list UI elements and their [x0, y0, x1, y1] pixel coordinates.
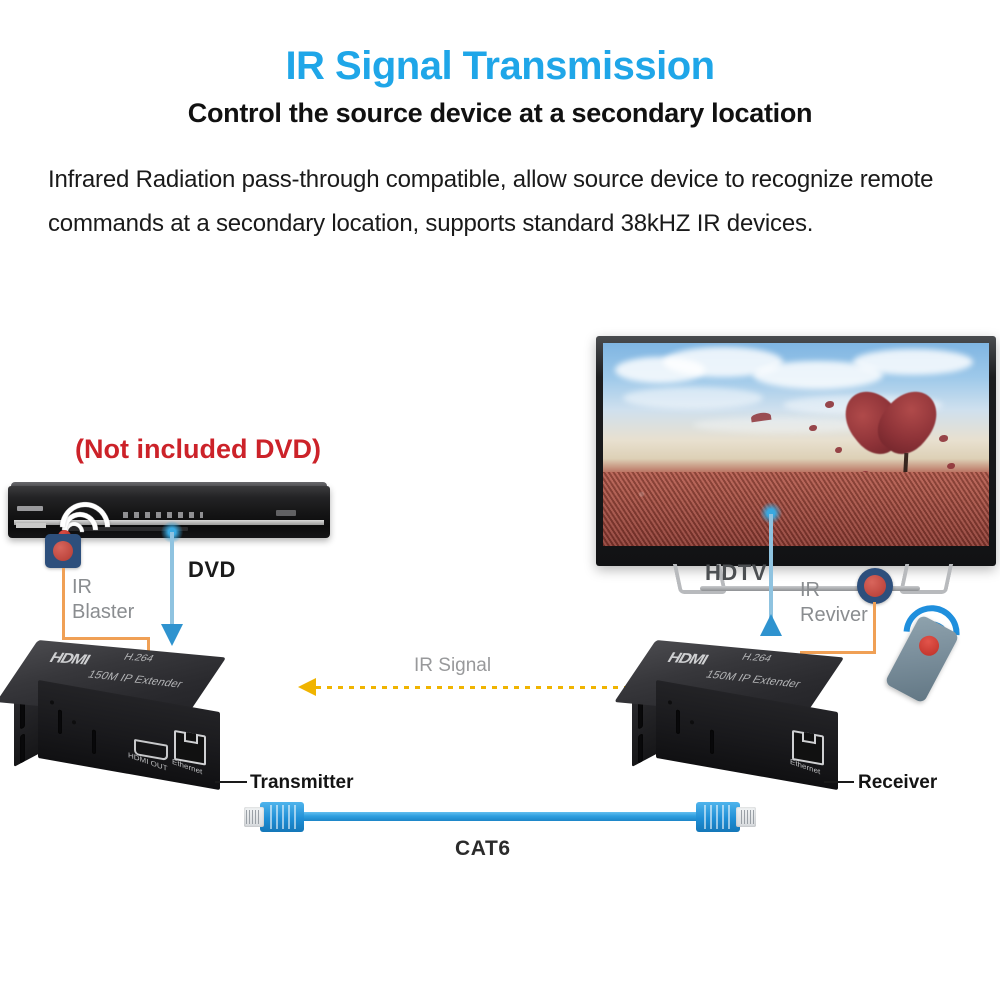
dvd-logo-right — [276, 510, 296, 516]
hdtv-video-arrow-line — [769, 514, 773, 622]
receiver-unit: HDMI H.264 150M IP Extender Receiver Eth… — [632, 640, 882, 810]
dvd-display — [123, 512, 203, 518]
cat6-connector-left — [244, 802, 304, 832]
cat6-connector-right — [696, 802, 756, 832]
hdtv-scene-ground — [603, 472, 989, 546]
transmitter-vent — [20, 733, 25, 764]
ir-receiver-label: IR Reviver — [800, 578, 868, 628]
receiver-callout-label: Receiver — [858, 770, 937, 795]
dvd-label: DVD — [188, 557, 236, 582]
ir-blaster-icon — [45, 534, 81, 568]
ir-blaster-cable-segment-vertical — [62, 568, 65, 640]
ir-blaster-label-line1: IR — [72, 575, 134, 600]
heart-tree-canopy — [849, 389, 935, 467]
ir-blaster-label: IR Blaster — [72, 575, 134, 625]
receiver-callout-leader — [824, 781, 854, 783]
page-title: IR Signal Transmission — [0, 44, 1000, 89]
infographic-canvas: IR Signal Transmission Control the sourc… — [0, 0, 1000, 1000]
transmitter-codec-label: H.264 — [122, 652, 156, 664]
transmitter-callout-label: Transmitter — [250, 770, 353, 795]
description-paragraph: Infrared Radiation pass-through compatib… — [48, 158, 978, 246]
ir-receiver-label-line1: IR — [800, 578, 868, 603]
receiver-vent — [638, 733, 643, 764]
hdtv-bezel — [596, 336, 996, 566]
ir-signal-arrow-head — [298, 678, 316, 696]
ir-receiver-label-line2: Reviver — [800, 603, 868, 628]
dvd-power-button — [16, 523, 46, 528]
cat6-label: CAT6 — [455, 836, 511, 861]
cat6-cable-body — [300, 812, 700, 821]
ir-blaster-label-line2: Blaster — [72, 600, 134, 625]
dvd-video-arrow-line — [170, 532, 174, 628]
ir-signal-dotted-line — [316, 686, 668, 689]
ir-signal-label: IR Signal — [414, 653, 491, 678]
transmitter-unit: HDMI H.264 150M IP Extender Transmitter … — [14, 640, 264, 810]
hdtv-video-arrow-head — [760, 614, 782, 636]
hdtv-label: HDTV — [705, 560, 767, 585]
receiver-codec-label: H.264 — [740, 652, 774, 664]
hdtv-screen — [603, 343, 989, 546]
not-included-note: (Not included DVD) — [75, 434, 321, 465]
page-subtitle: Control the source device at a secondary… — [0, 98, 1000, 129]
transmitter-callout-leader — [215, 781, 247, 783]
dvd-brand-mark — [17, 506, 43, 511]
